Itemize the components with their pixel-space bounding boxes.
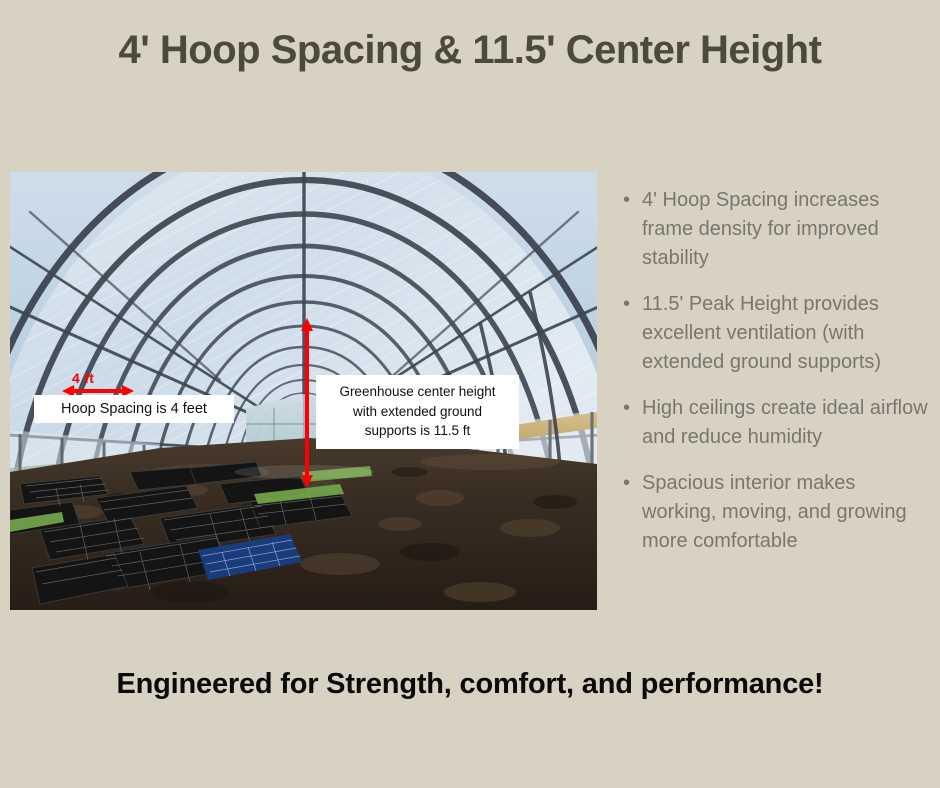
list-item-label: High ceilings create ideal airflow and r… [642, 397, 928, 448]
list-item-label: 4' Hoop Spacing increases frame density … [642, 189, 879, 269]
bullet-marker-icon: • [623, 394, 630, 423]
list-item: • High ceilings create ideal airflow and… [620, 394, 932, 452]
feature-bullet-list: • 4' Hoop Spacing increases frame densit… [620, 186, 932, 573]
slide-tagline: Engineered for Strength, comfort, and pe… [0, 668, 940, 701]
list-item-label: Spacious interior makes working, moving,… [642, 472, 907, 552]
list-item-label: 11.5' Peak Height provides excellent ven… [642, 293, 881, 373]
bullet-marker-icon: • [623, 290, 630, 319]
greenhouse-photo [10, 172, 597, 610]
list-item: • Spacious interior makes working, movin… [620, 469, 932, 556]
bullet-marker-icon: • [623, 186, 630, 215]
bullet-marker-icon: • [623, 469, 630, 498]
list-item: • 4' Hoop Spacing increases frame densit… [620, 186, 932, 273]
list-item: • 11.5' Peak Height provides excellent v… [620, 290, 932, 377]
greenhouse-photo-illustration [10, 172, 597, 610]
page-title: 4' Hoop Spacing & 11.5' Center Height [0, 28, 940, 73]
